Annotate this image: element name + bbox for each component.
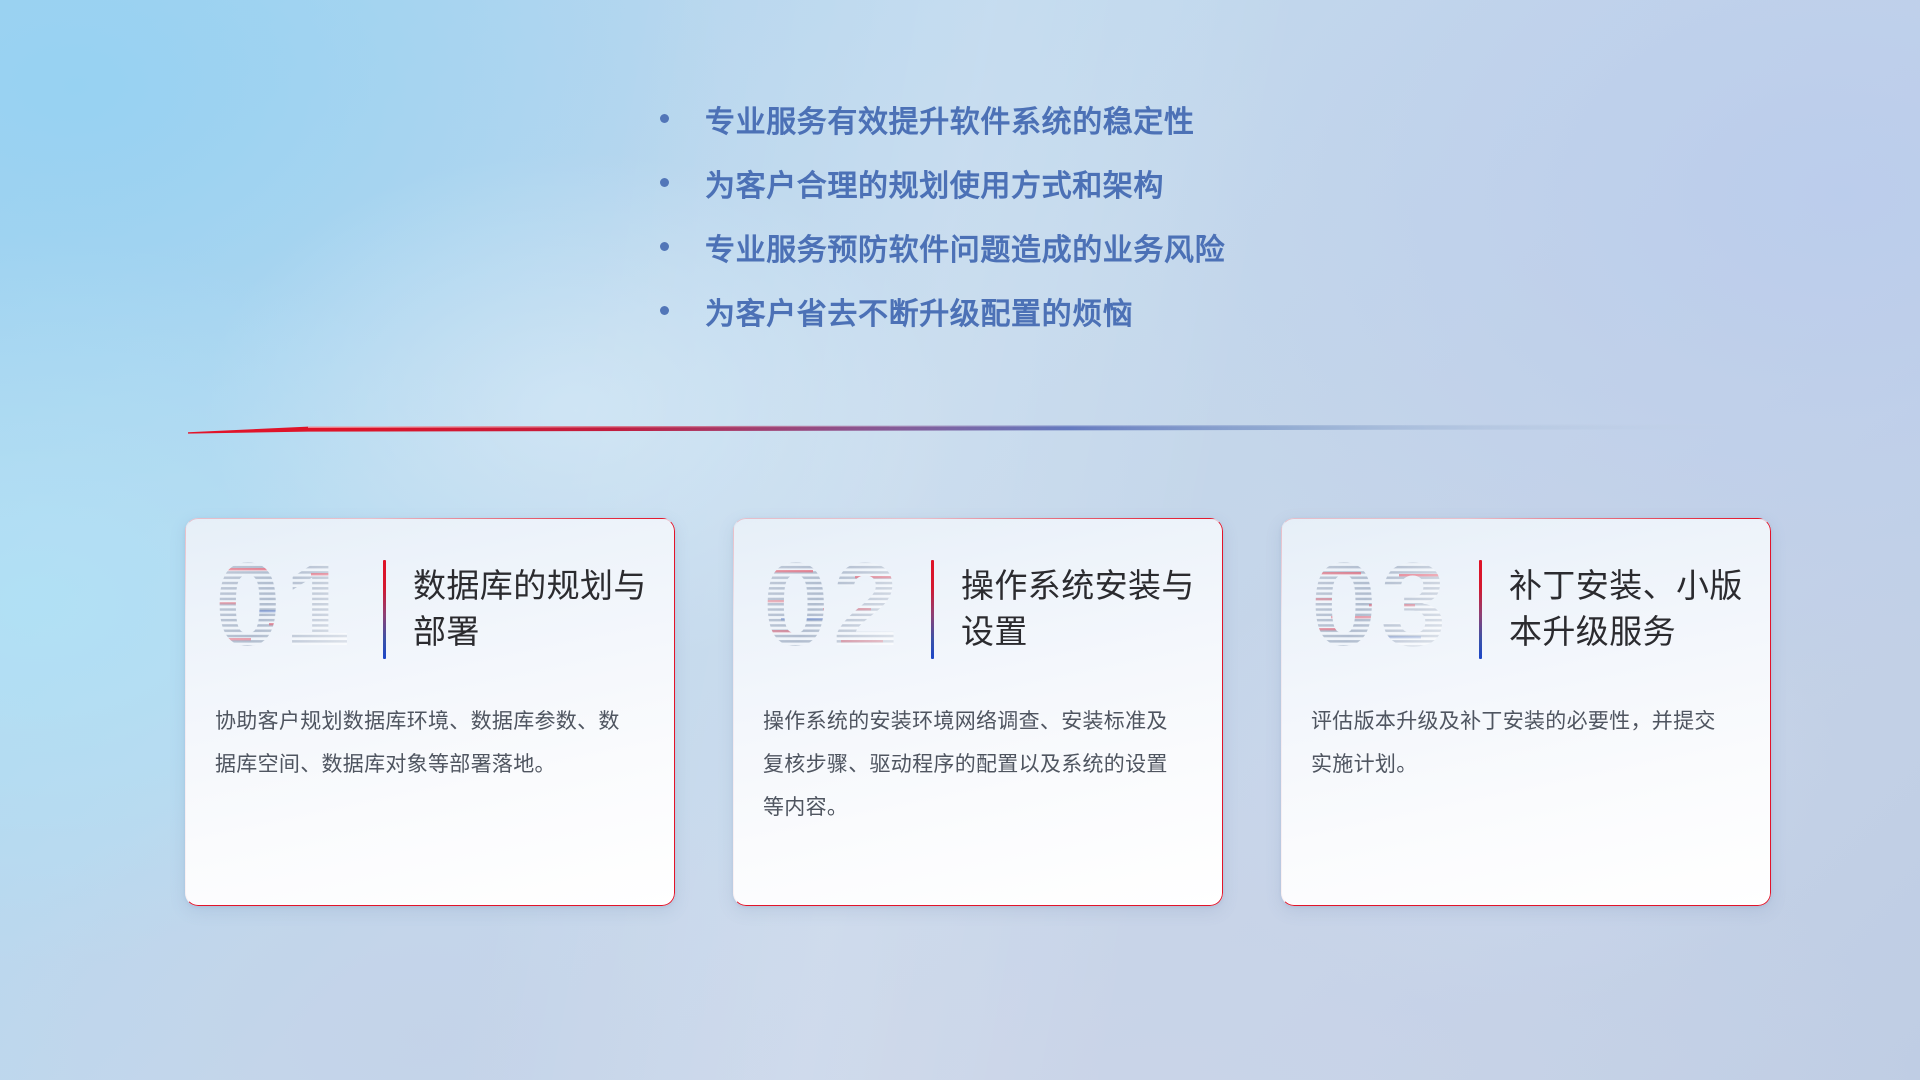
list-item: 为客户合理的规划使用方式和架构 — [660, 172, 1225, 236]
card-title-rule — [1479, 560, 1482, 659]
card-description: 操作系统的安装环境网络调查、安装标准及复核步骤、驱动程序的配置以及系统的设置等内… — [733, 700, 1223, 829]
bullet-text: 专业服务有效提升软件系统的稳定性 — [705, 108, 1195, 138]
card-title-rule — [931, 560, 934, 659]
list-item: 专业服务有效提升软件系统的稳定性 — [660, 108, 1225, 172]
list-item: 专业服务预防软件问题造成的业务风险 — [660, 236, 1225, 300]
card-title: 补丁安装、小版本升级服务 — [1509, 563, 1745, 654]
benefits-bullet-list: 专业服务有效提升软件系统的稳定性 为客户合理的规划使用方式和架构 专业服务预防软… — [660, 108, 1225, 364]
card-number-watermark: 03 — [1311, 550, 1463, 668]
service-card[interactable]: 03 — [1281, 518, 1771, 906]
card-header: 02 — [733, 518, 1223, 700]
service-card[interactable]: 02 — [733, 518, 1223, 906]
card-number-watermark: 01 — [215, 550, 367, 668]
card-header: 03 — [1281, 518, 1771, 700]
service-card[interactable]: 01 — [185, 518, 675, 906]
card-title-rule — [383, 560, 386, 659]
striped-numeral-03-icon: 03 — [1311, 550, 1463, 668]
bullet-text: 为客户合理的规划使用方式和架构 — [705, 172, 1164, 202]
divider-shape — [188, 421, 1758, 437]
striped-numeral-02-icon: 02 — [763, 550, 915, 668]
list-item: 为客户省去不断升级配置的烦恼 — [660, 300, 1225, 364]
card-number-watermark: 02 — [763, 550, 915, 668]
bullet-text: 专业服务预防软件问题造成的业务风险 — [705, 236, 1225, 266]
bullet-dot-icon — [660, 242, 669, 251]
bullet-dot-icon — [660, 306, 669, 315]
card-title: 数据库的规划与部署 — [413, 563, 649, 654]
card-header: 01 — [185, 518, 675, 700]
card-description: 协助客户规划数据库环境、数据库参数、数据库空间、数据库对象等部署落地。 — [185, 700, 675, 786]
service-card-row: 01 — [185, 518, 1771, 906]
bullet-text: 为客户省去不断升级配置的烦恼 — [705, 300, 1133, 330]
bullet-dot-icon — [660, 114, 669, 123]
card-title: 操作系统安装与设置 — [961, 563, 1197, 654]
bullet-dot-icon — [660, 178, 669, 187]
card-description: 评估版本升级及补丁安装的必要性，并提交实施计划。 — [1281, 700, 1771, 786]
section-divider — [188, 421, 1758, 437]
striped-numeral-01-icon: 01 — [215, 550, 367, 668]
